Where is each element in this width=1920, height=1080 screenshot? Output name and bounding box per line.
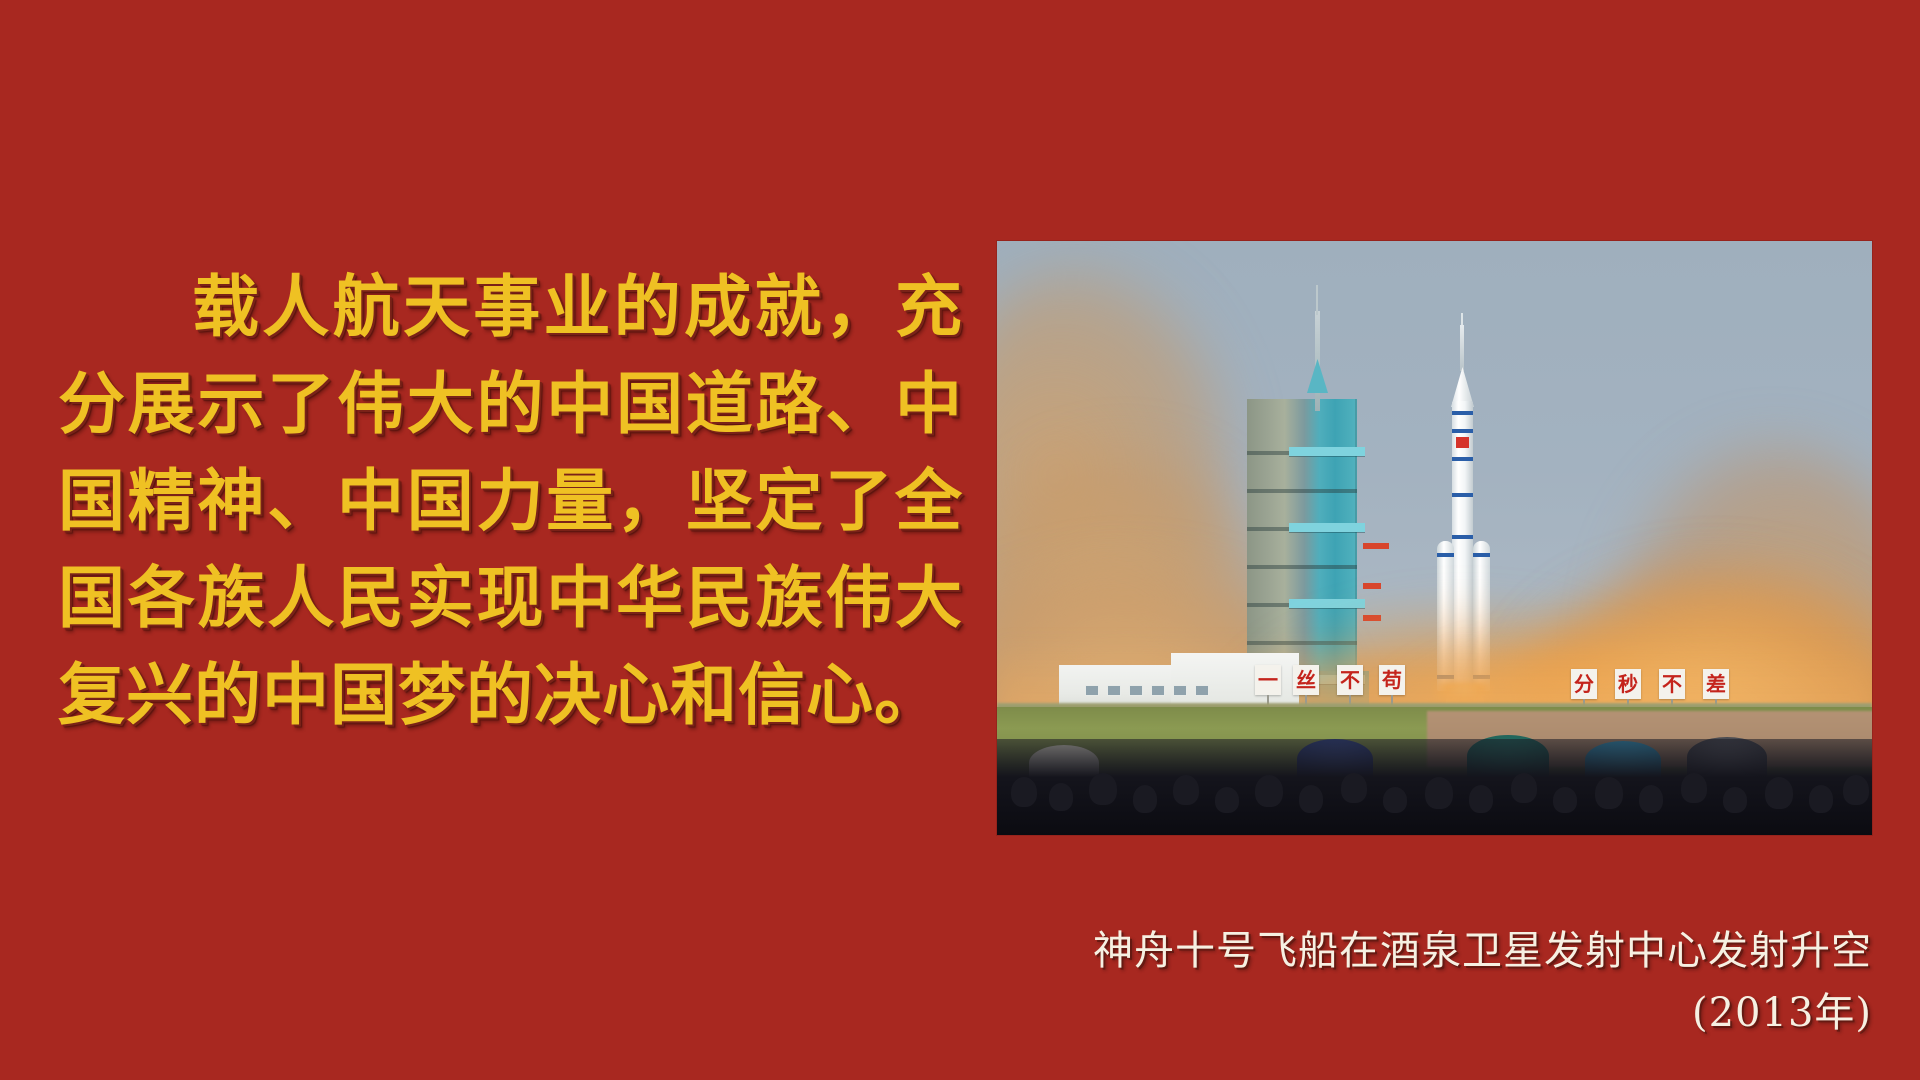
crowd-head (1553, 787, 1577, 813)
quote-text: 载人航天事业的成就，充分展示了伟大的中国道路、中国精神、中国力量，坚定了全国各族… (58, 258, 963, 743)
launch-photo-frame: 一 丝 不 苟 分 秒 不 差 (997, 241, 1872, 835)
crowd-head (1843, 775, 1869, 805)
gantry-platform (1289, 599, 1365, 608)
quote-block: 载人航天事业的成就，充分展示了伟大的中国道路、中国精神、中国力量，坚定了全国各族… (58, 258, 963, 743)
launch-escape-tower (1460, 325, 1464, 371)
building-window (1173, 685, 1187, 696)
crowd-head (1723, 787, 1747, 813)
gantry-rung (1247, 565, 1357, 569)
crowd-head (1383, 787, 1407, 813)
gantry-platform (1289, 523, 1365, 532)
crowd-head (1011, 777, 1037, 807)
rocket-band (1452, 457, 1473, 461)
crowd-head (1299, 785, 1323, 813)
rocket-band (1452, 535, 1473, 539)
slogan-sign-right-4: 差 (1703, 669, 1729, 699)
crowd-head (1511, 773, 1537, 803)
crowd-head (1469, 785, 1493, 813)
crowd-head (1765, 777, 1793, 809)
gantry-mast-cone (1307, 359, 1328, 393)
crowd-head (1215, 787, 1239, 813)
rocket-band (1452, 493, 1473, 497)
caption-line-1: 神舟十号飞船在酒泉卫星发射中心发射升空 (860, 920, 1872, 982)
slogan-sign-right-2: 秒 (1615, 669, 1641, 699)
slogan-sign-left-3: 不 (1337, 665, 1363, 695)
crowd-head (1681, 773, 1707, 803)
photo-caption: 神舟十号飞船在酒泉卫星发射中心发射升空 (2013年) (860, 920, 1872, 1044)
slogan-sign-left-4: 苟 (1379, 665, 1405, 695)
gantry-red-marker (1363, 583, 1381, 589)
crowd-head (1089, 773, 1117, 805)
rocket-band (1452, 429, 1473, 433)
building-window (1151, 685, 1165, 696)
building-window (1195, 685, 1209, 696)
crowd-head (1809, 785, 1833, 813)
slogan-sign-right-3: 不 (1659, 669, 1685, 699)
booster-band (1473, 553, 1490, 557)
gantry-red-marker (1363, 543, 1389, 549)
crowd-head (1133, 785, 1157, 813)
slogan-sign-right-1: 分 (1571, 669, 1597, 699)
gantry-platform (1289, 447, 1365, 456)
crowd-head (1595, 777, 1623, 809)
caption-line-2: (2013年) (860, 982, 1872, 1044)
gantry-red-marker (1363, 615, 1381, 621)
crowd-head (1341, 773, 1367, 803)
crowd-head (1255, 775, 1283, 807)
shenzhou-10-launch-photo: 一 丝 不 苟 分 秒 不 差 (997, 241, 1872, 835)
building-window (1129, 685, 1143, 696)
slogan-sign-left-2: 丝 (1293, 665, 1319, 695)
crowd-head (1639, 785, 1663, 813)
building-window (1085, 685, 1099, 696)
gantry-rung (1247, 489, 1357, 493)
slogan-sign-left-1: 一 (1255, 665, 1281, 695)
crowd-head (1425, 777, 1453, 809)
building-window (1107, 685, 1121, 696)
crowd-head (1049, 783, 1073, 811)
booster-band (1437, 553, 1454, 557)
gantry-mast-tip (1316, 285, 1318, 315)
rocket-band (1452, 411, 1473, 415)
spectator-crowd (997, 739, 1872, 835)
crowd-head (1173, 775, 1199, 805)
rocket-flag-marking (1456, 437, 1469, 448)
presentation-slide: 载人航天事业的成就，充分展示了伟大的中国道路、中国精神、中国力量，坚定了全国各族… (0, 0, 1920, 1080)
